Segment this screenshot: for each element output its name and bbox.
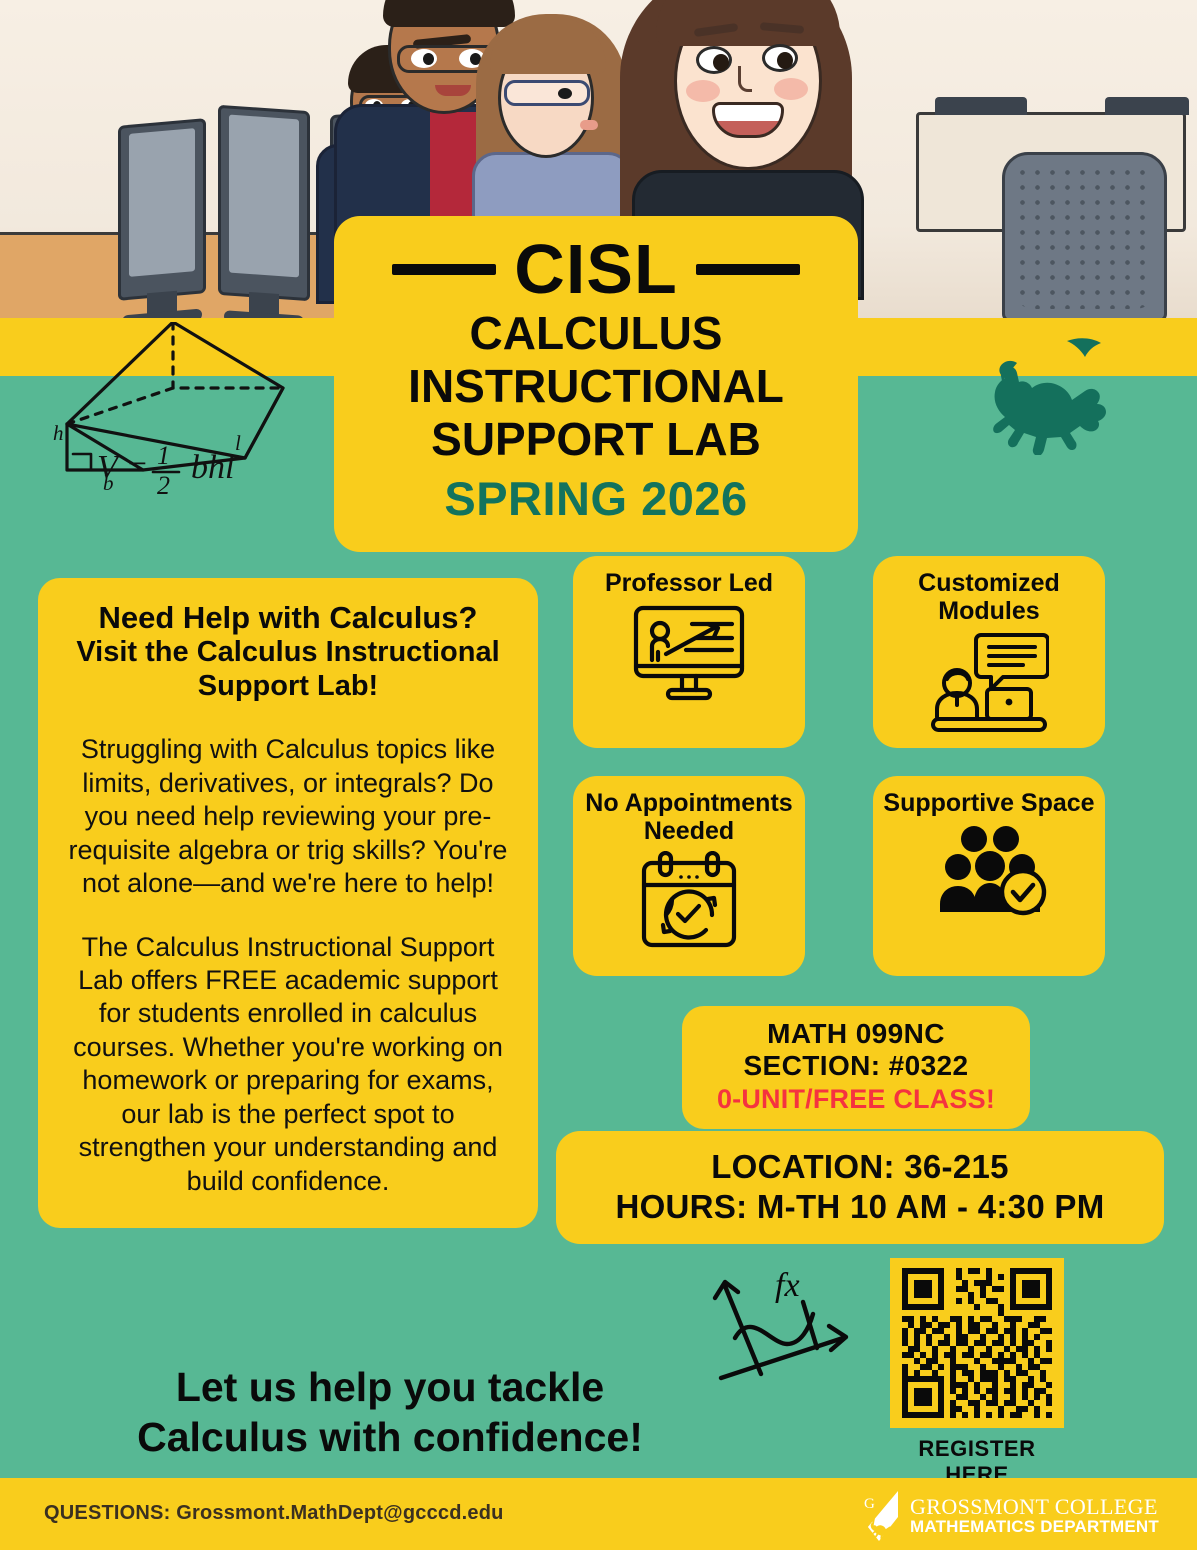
griffin-mascot-icon [965, 335, 1155, 455]
panel-heading-2: Visit the Calculus Instructional Support… [64, 636, 512, 703]
course-unit-badge: 0-UNIT/FREE CLASS! [692, 1083, 1020, 1115]
title-line-2: INSTRUCTIONAL [356, 363, 836, 410]
svg-text:2: 2 [157, 471, 170, 498]
svg-text:V =: V = [97, 449, 149, 486]
calendar-refresh-icon [636, 851, 742, 949]
tagline-line-2: Calculus with confidence! [60, 1412, 720, 1462]
tagline: Let us help you tackle Calculus with con… [60, 1362, 720, 1462]
function-graph-sketch-icon: fx [703, 1252, 868, 1382]
qr-register-block[interactable]: REGISTER HERE [890, 1258, 1064, 1488]
feature-label: Supportive Space [883, 790, 1094, 818]
course-code: MATH 099NC [692, 1018, 1020, 1050]
feature-label: Professor Led [605, 570, 773, 598]
cabinet-handle-right [1105, 97, 1189, 115]
feature-card-supportive-space: Supportive Space [873, 776, 1105, 976]
info-text-panel: Need Help with Calculus? Visit the Calcu… [38, 578, 538, 1228]
panel-paragraph-2: The Calculus Instructional Support Lab o… [64, 931, 512, 1199]
cabinet-handle-left [935, 97, 1027, 115]
panel-heading-1: Need Help with Calculus? [64, 600, 512, 636]
title-line-1: CALCULUS [356, 310, 836, 357]
footer-questions-email[interactable]: QUESTIONS: Grossmont.MathDept@gcccd.edu [44, 1502, 504, 1525]
poster-root: h b l V = 1 2 bhl CISL CALCULUS INSTRUCT… [0, 0, 1197, 1550]
feature-label: No Appointments Needed [573, 790, 805, 845]
poster-acronym: CISL [514, 234, 677, 304]
svg-text:1: 1 [157, 441, 170, 470]
course-info-box: MATH 099NC SECTION: #0322 0-UNIT/FREE CL… [682, 1006, 1030, 1129]
title-term: SPRING 2026 [356, 471, 836, 526]
panel-paragraph-1: Struggling with Calculus topics like lim… [64, 733, 512, 900]
volume-formula-sketch: V = 1 2 bhl [95, 438, 295, 498]
logo-line-2: MATHEMATICS DEPARTMENT [910, 1518, 1159, 1537]
title-card: CISL CALCULUS INSTRUCTIONAL SUPPORT LAB … [334, 216, 858, 552]
feature-card-customized-modules: Customized Modules [873, 556, 1105, 748]
hours-line: HOURS: M-TH 10 AM - 4:30 PM [568, 1187, 1152, 1227]
rule-right [696, 264, 800, 275]
shield-letter: G [864, 1496, 875, 1512]
location-line: LOCATION: 36-215 [568, 1147, 1152, 1187]
footer-bar: QUESTIONS: Grossmont.MathDept@gcccd.edu … [0, 1478, 1197, 1550]
chair-mesh [1015, 165, 1154, 309]
tagline-line-1: Let us help you tackle [60, 1362, 720, 1412]
logo-line-1: GROSSMONT COLLEGE [910, 1495, 1159, 1518]
feature-label: Customized Modules [873, 570, 1105, 625]
feature-card-professor-led: Professor Led [573, 556, 805, 748]
office-chair [1002, 152, 1167, 322]
shield-logo-icon: G [858, 1490, 900, 1542]
svg-text:bhl: bhl [191, 449, 234, 486]
course-section: SECTION: #0322 [692, 1050, 1020, 1082]
qr-code-box[interactable] [890, 1258, 1064, 1428]
prism-label-h: h [53, 421, 64, 445]
grossmont-logo: G GROSSMONT COLLEGE MATHEMATICS DEPARTME… [858, 1490, 1159, 1542]
fx-label: fx [775, 1267, 800, 1304]
location-hours-box: LOCATION: 36-215 HOURS: M-TH 10 AM - 4:3… [556, 1131, 1164, 1244]
monitor-icon [218, 105, 310, 301]
group-people-check-icon [930, 824, 1048, 916]
title-acronym-row: CISL [356, 234, 836, 304]
title-line-3: SUPPORT LAB [356, 416, 836, 463]
qr-code-icon[interactable] [900, 1268, 1054, 1418]
rule-left [392, 264, 496, 275]
presentation-board-icon [630, 604, 748, 712]
feature-card-no-appointments: No Appointments Needed [573, 776, 805, 976]
person-at-laptop-icon [929, 631, 1049, 739]
monitor-icon [118, 118, 206, 301]
